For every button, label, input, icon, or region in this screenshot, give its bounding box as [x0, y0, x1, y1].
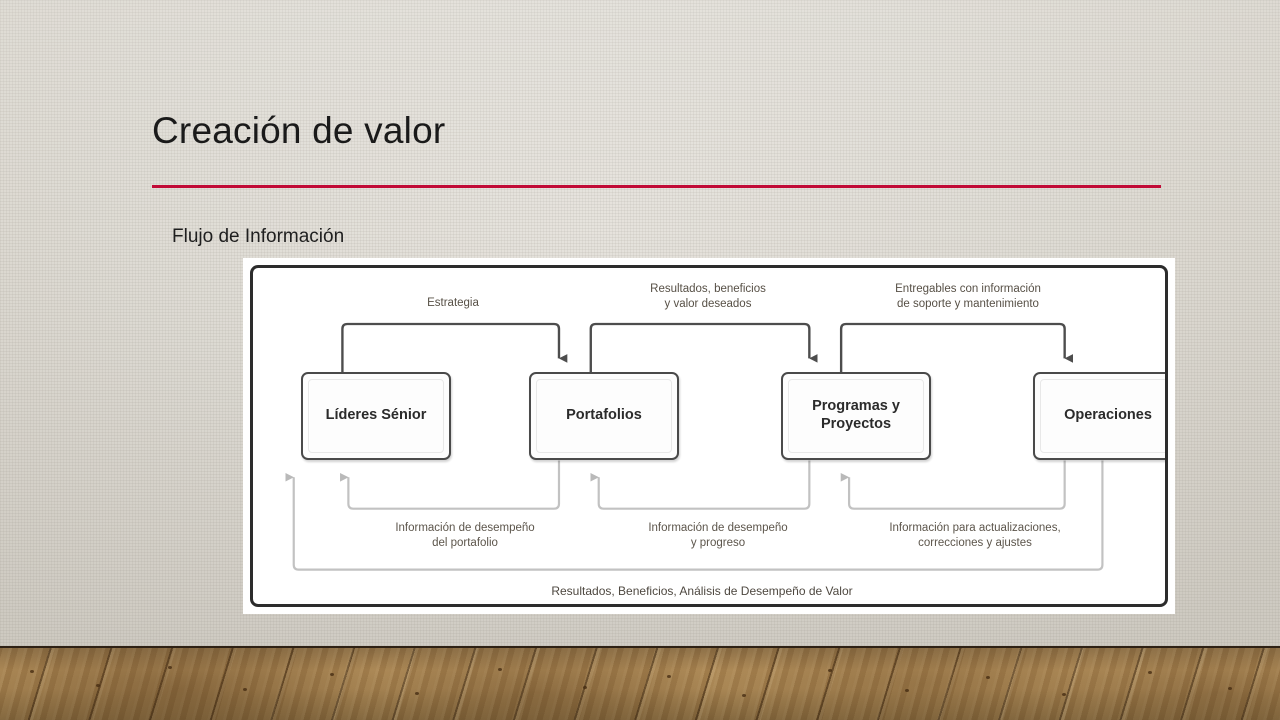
flow-label-resultados-beneficios-analisis: Resultados, Beneficios, Análisis de Dese…: [412, 584, 992, 600]
flow-label-estrategia: Estrategia: [363, 296, 543, 311]
flow-label-resultados-beneficios-valor: Resultados, beneficios y valor deseados: [608, 282, 808, 312]
wood-knot: [1228, 687, 1232, 690]
wood-knot: [415, 692, 419, 695]
wood-knot: [986, 676, 990, 679]
wood-knot: [667, 675, 671, 678]
return-flow-lines: [294, 461, 1103, 570]
wood-knot: [168, 666, 172, 669]
slide-canvas: Creación de valor Flujo de Información: [0, 0, 1280, 720]
flow-label-entregables-soporte-mantenimiento: Entregables con información de soporte y…: [853, 282, 1083, 312]
forward-flow-lines: [342, 324, 1064, 372]
title-divider: [152, 185, 1161, 188]
node-portafolios[interactable]: Portafolios: [529, 372, 679, 460]
wood-knot: [905, 689, 909, 692]
wood-knot: [1148, 671, 1152, 674]
node-label-portafolios: Portafolios: [566, 407, 642, 425]
wood-knot: [243, 688, 247, 691]
page-title: Creación de valor: [152, 110, 445, 152]
wood-floor: [0, 646, 1280, 720]
wood-knot: [330, 673, 334, 676]
wood-knot: [742, 694, 746, 697]
node-label-operaciones: Operaciones: [1064, 407, 1152, 425]
node-programas-y-proyectos[interactable]: Programas y Proyectos: [781, 372, 931, 460]
wood-knot: [583, 686, 587, 689]
node-label-programas-y-proyectos: Programas y Proyectos: [783, 398, 929, 433]
wood-knot: [828, 669, 832, 672]
wood-knot: [96, 684, 100, 687]
flow-label-informacion-desempeno-progreso: Información de desempeño y progreso: [618, 521, 818, 551]
flow-label-informacion-actualizaciones-correcciones: Información para actualizaciones, correc…: [861, 521, 1089, 551]
node-operaciones[interactable]: Operaciones: [1033, 372, 1168, 460]
node-label-lideres-senior: Líderes Sénior: [326, 407, 427, 425]
floor-shading: [0, 648, 1280, 720]
flow-label-informacion-desempeno-portafolio: Información de desempeño del portafolio: [365, 521, 565, 551]
wood-knot: [1062, 693, 1066, 696]
diagram-frame: Estrategia Resultados, beneficios y valo…: [243, 258, 1175, 614]
section-subtitle: Flujo de Información: [172, 226, 344, 248]
node-lideres-senior[interactable]: Líderes Sénior: [301, 372, 451, 460]
wood-knot: [498, 668, 502, 671]
diagram-border: Estrategia Resultados, beneficios y valo…: [250, 265, 1168, 607]
wood-knot: [30, 670, 34, 673]
